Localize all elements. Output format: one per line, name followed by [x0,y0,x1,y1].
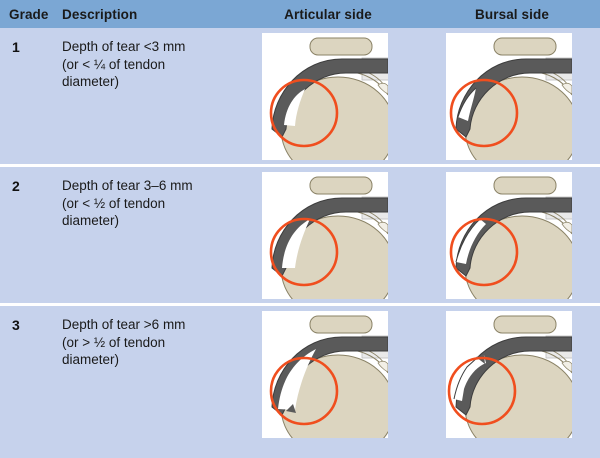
articular-figure-cell [232,306,418,448]
table-header-row: Grade Description Articular side Bursal … [0,0,600,28]
description-line: Depth of tear 3–6 mm [62,177,220,195]
description-line: diameter) [62,212,220,230]
description-line: diameter) [62,73,220,91]
bursal-figure-cell [418,28,600,164]
bursal-side-illustration-grade-3 [446,311,572,438]
column-header-grade: Grade [0,7,62,22]
description-line: Depth of tear >6 mm [62,316,220,334]
bursal-side-illustration-grade-1 [446,33,572,160]
description-line: (or > ½ of tendon [62,334,220,352]
grade-value: 1 [0,28,62,164]
description-line: (or < ¼ of tendon [62,56,220,74]
table-row: 2 Depth of tear 3–6 mm (or < ½ of tendon… [0,167,600,306]
column-header-bursal: Bursal side [424,7,600,22]
articular-side-illustration-grade-3 [262,311,388,438]
bursal-figure-cell [418,167,600,303]
description-text: Depth of tear >6 mm (or > ½ of tendon di… [62,306,232,448]
description-line: diameter) [62,351,220,369]
bursal-figure-cell [418,306,600,448]
articular-side-illustration-grade-1 [262,33,388,160]
grade-value: 2 [0,167,62,303]
grade-value: 3 [0,306,62,448]
column-header-description: Description [62,7,232,22]
rotator-cuff-grading-table: Grade Description Articular side Bursal … [0,0,600,458]
articular-figure-cell [232,28,418,164]
articular-side-illustration-grade-2 [262,172,388,299]
description-line: (or < ½ of tendon [62,195,220,213]
bursal-side-illustration-grade-2 [446,172,572,299]
description-line: Depth of tear <3 mm [62,38,220,56]
table-row: 3 Depth of tear >6 mm (or > ½ of tendon … [0,306,600,448]
description-text: Depth of tear 3–6 mm (or < ½ of tendon d… [62,167,232,303]
description-text: Depth of tear <3 mm (or < ¼ of tendon di… [62,28,232,164]
table-row: 1 Depth of tear <3 mm (or < ¼ of tendon … [0,28,600,167]
articular-figure-cell [232,167,418,303]
column-header-articular: Articular side [232,7,424,22]
